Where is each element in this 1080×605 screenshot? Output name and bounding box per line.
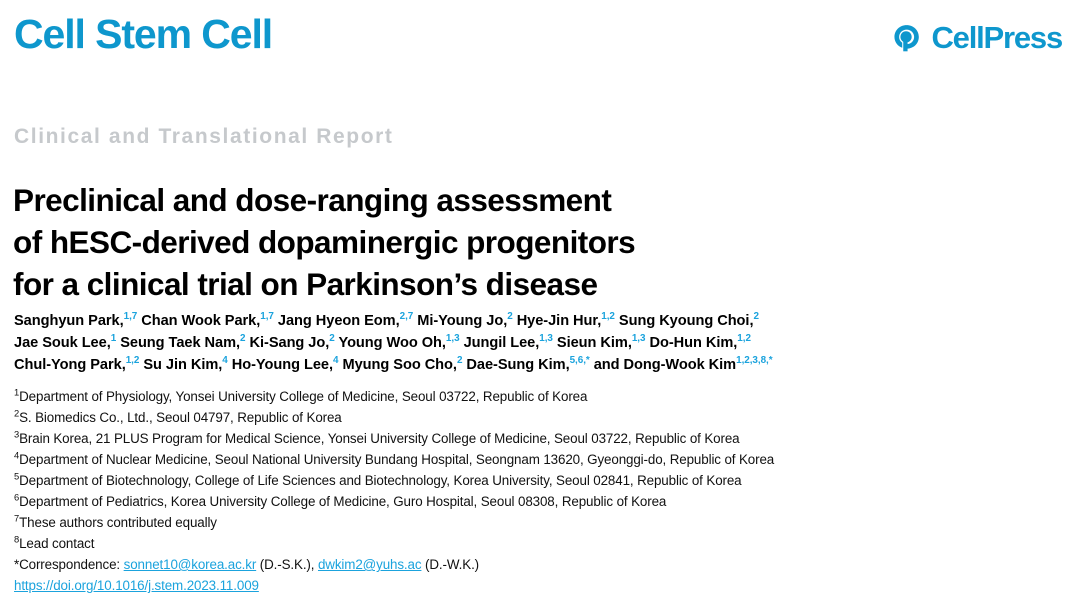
author-name[interactable]: Mi-Young Jo [417,313,503,329]
author-name[interactable]: Sanghyun Park [14,313,120,329]
cellpress-logo[interactable]: CellPress [892,22,1062,53]
author-name[interactable]: Do-Hun Kim [649,335,733,351]
journal-article-header-page: { "masthead": { "journal_title": "Cell S… [0,0,1080,605]
author-affiliation-marks: 2 [329,333,334,344]
journal-title: Cell Stem Cell [14,14,272,55]
author-affiliation-marks: 4 [222,355,227,366]
affiliation-text: S. Biomedics Co., Ltd., Seoul 04797, Rep… [19,410,342,425]
author-affiliation-marks: 4 [333,355,338,366]
cellpress-c-mark-icon [892,23,922,53]
lead-contact-note: 8Lead contact [14,533,1074,554]
author-name[interactable]: Seung Taek Nam [120,335,236,351]
masthead: Cell Stem Cell CellPress [0,0,1080,92]
author-affiliation-marks: 1,3 [446,333,460,344]
affiliation-item: 2S. Biomedics Co., Ltd., Seoul 04797, Re… [14,407,1074,428]
author-name[interactable]: Hye-Jin Hur [517,313,598,329]
affiliation-text: Department of Biotechnology, College of … [19,473,741,488]
affiliation-item: 4Department of Nuclear Medicine, Seoul N… [14,449,1074,470]
affiliation-item: 5Department of Biotechnology, College of… [14,470,1074,491]
affiliation-text: Department of Physiology, Yonsei Univers… [19,389,587,404]
author-affiliation-marks: 2 [240,333,245,344]
affiliation-text: These authors contributed equally [19,515,217,530]
doi-line: https://doi.org/10.1016/j.stem.2023.11.0… [14,575,479,596]
author-affiliation-marks: 1 [111,333,116,344]
affiliation-item: 1Department of Physiology, Yonsei Univer… [14,386,1074,407]
author-line-3: Chul-Yong Park,1,2 Su Jin Kim,4 Ho-Young… [14,354,1069,376]
author-name[interactable]: Jang Hyeon Eom [278,313,396,329]
author-affiliation-marks: 1,2,3,8,* [736,355,772,366]
cellpress-wordmark: CellPress [931,22,1062,53]
author-name[interactable]: and Dong-Wook Kim [594,357,736,373]
author-line-1: Sanghyun Park,1,7 Chan Wook Park,1,7 Jan… [14,310,1069,332]
author-affiliation-marks: 1,3 [539,333,553,344]
author-affiliation-marks: 2 [507,311,512,322]
author-name[interactable]: Sieun Kim [557,335,628,351]
author-name[interactable]: Chul-Yong Park [14,357,122,373]
affiliation-text: Brain Korea, 21 PLUS Program for Medical… [19,431,739,446]
author-affiliation-marks: 5,6,* [570,355,590,366]
doi-link[interactable]: https://doi.org/10.1016/j.stem.2023.11.0… [14,578,259,593]
affiliation-text: Department of Pediatrics, Korea Universi… [19,494,666,509]
affiliation-text: Lead contact [19,536,94,551]
author-affiliation-marks: 2 [753,311,758,322]
title-line-2: of hESC-derived dopaminergic progenitors [13,221,913,263]
title-line-1: Preclinical and dose-ranging assessment [13,179,913,221]
author-name[interactable]: Jungil Lee [464,335,536,351]
author-affiliation-marks: 1,3 [632,333,646,344]
author-name[interactable]: Su Jin Kim [143,357,218,373]
author-name[interactable]: Ki-Sang Jo [250,335,326,351]
author-affiliation-marks: 2,7 [400,311,414,322]
correspondence-initials-2: (D.-W.K.) [425,557,479,572]
correspondence-initials-1: (D.-S.K.), [260,557,315,572]
author-name[interactable]: Young Woo Oh [338,335,441,351]
correspondence-label: *Correspondence: [14,557,120,572]
author-name[interactable]: Sung Kyoung Choi [619,313,750,329]
author-name[interactable]: Dae-Sung Kim [466,357,565,373]
author-name[interactable]: Chan Wook Park [141,313,256,329]
author-list: Sanghyun Park,1,7 Chan Wook Park,1,7 Jan… [14,310,1069,376]
affiliation-item: 6Department of Pediatrics, Korea Univers… [14,491,1074,512]
affiliation-text: Department of Nuclear Medicine, Seoul Na… [19,452,774,467]
author-affiliation-marks: 1,2 [737,333,751,344]
author-name[interactable]: Myung Soo Cho [343,357,453,373]
author-name[interactable]: Ho-Young Lee [232,357,329,373]
author-name[interactable]: Jae Souk Lee [14,335,107,351]
author-affiliation-marks: 1,2 [601,311,615,322]
title-line-3: for a clinical trial on Parkinson’s dise… [13,263,913,305]
author-line-2: Jae Souk Lee,1 Seung Taek Nam,2 Ki-Sang … [14,332,1069,354]
affiliation-item: 3Brain Korea, 21 PLUS Program for Medica… [14,428,1074,449]
author-affiliation-marks: 1,2 [126,355,140,366]
correspondence-email-1[interactable]: sonnet10@korea.ac.kr [124,557,257,572]
affiliation-list: 1Department of Physiology, Yonsei Univer… [14,386,1074,554]
correspondence-line: *Correspondence: sonnet10@korea.ac.kr (D… [14,554,479,575]
author-affiliation-marks: 2 [457,355,462,366]
correspondence-block: *Correspondence: sonnet10@korea.ac.kr (D… [14,554,479,596]
author-affiliation-marks: 1,7 [260,311,274,322]
correspondence-email-2[interactable]: dwkim2@yuhs.ac [318,557,421,572]
equal-contribution-note: 7These authors contributed equally [14,512,1074,533]
page-title: Preclinical and dose-ranging assessment … [13,179,913,305]
author-affiliation-marks: 1,7 [124,311,138,322]
article-type-label: Clinical and Translational Report [14,125,394,149]
